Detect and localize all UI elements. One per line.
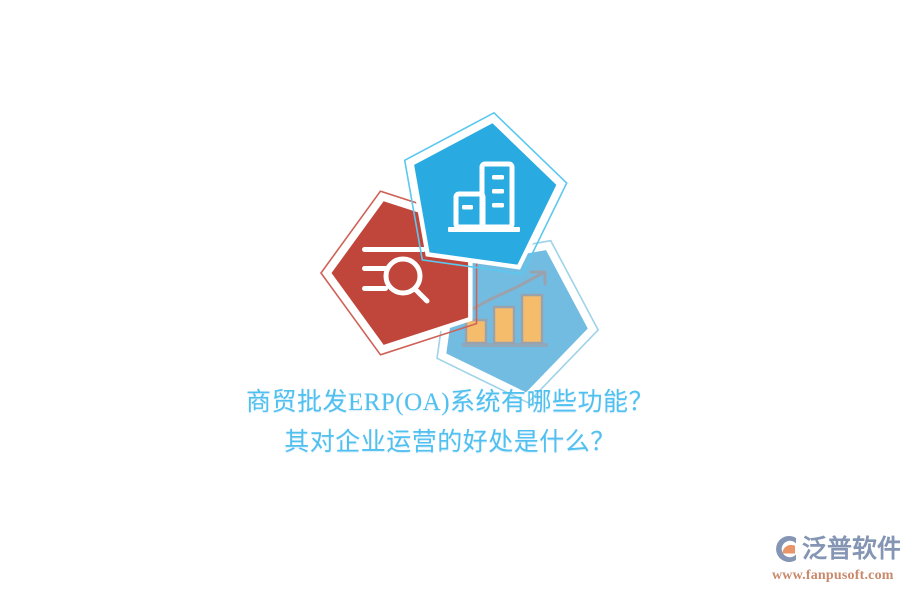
page-title-line-1: 商贸批发ERP(OA)系统有哪些功能？ <box>0 383 900 423</box>
page-title: 商贸批发ERP(OA)系统有哪些功能？ 其对企业运营的好处是什么？ <box>0 383 900 463</box>
fanpu-logo-mark-icon <box>770 534 800 564</box>
pentagon-icon-cluster <box>300 118 600 393</box>
brand-url: www.fanpusoft.com <box>772 568 894 584</box>
logo-row: 泛普软件 <box>770 531 894 567</box>
page-title-line-2: 其对企业运营的好处是什么？ <box>0 423 900 463</box>
brand-wordmark: 泛普软件 <box>802 534 900 564</box>
watermark-logo: 泛普软件 www.fanpusoft.com <box>770 531 894 587</box>
page-canvas: 商贸批发ERP(OA)系统有哪些功能？ 其对企业运营的好处是什么？ 泛普软件 w… <box>0 0 900 600</box>
